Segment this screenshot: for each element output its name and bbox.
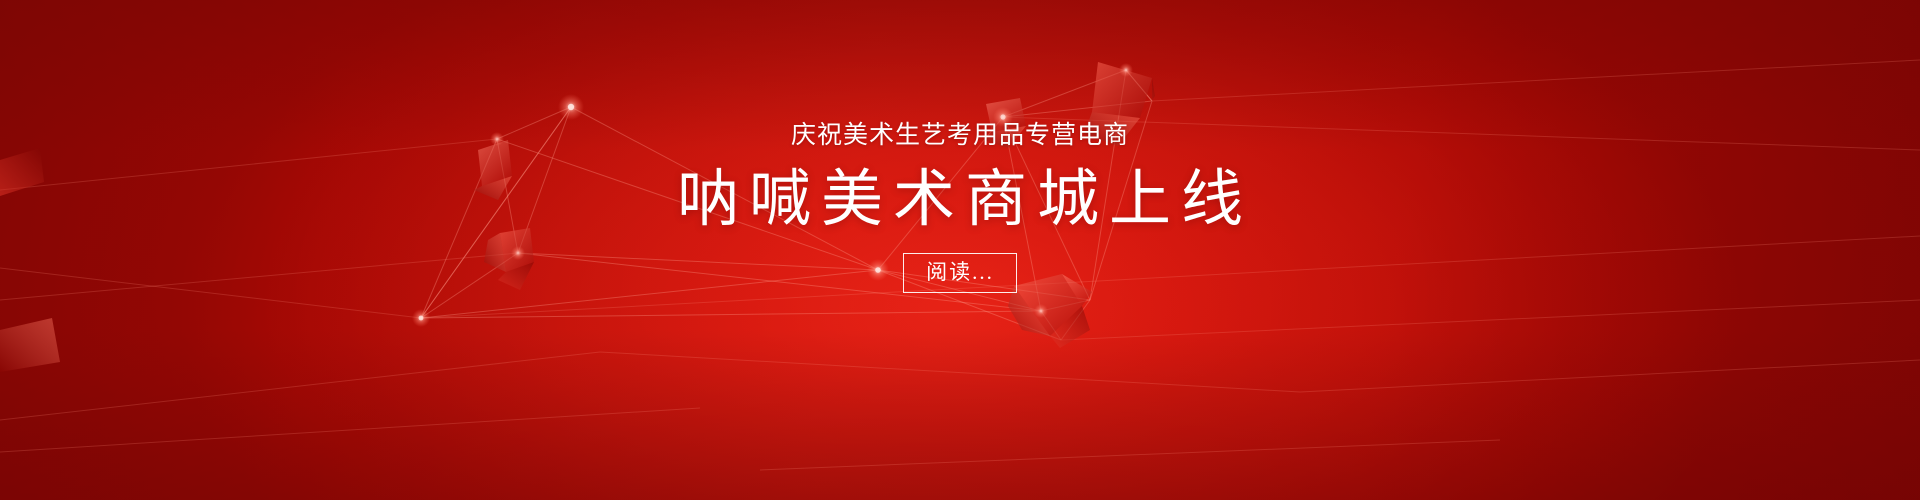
banner-cta-wrap: 阅读... <box>903 253 1017 293</box>
banner-title: 呐喊美术商城上线 <box>667 168 1253 234</box>
banner-subtitle: 庆祝美术生艺考用品专营电商 <box>791 122 1129 150</box>
banner-content: 庆祝美术生艺考用品专营电商 呐喊美术商城上线 阅读... <box>0 0 1920 500</box>
promo-banner: 庆祝美术生艺考用品专营电商 呐喊美术商城上线 阅读... <box>0 0 1920 500</box>
read-more-button[interactable]: 阅读... <box>903 253 1017 293</box>
